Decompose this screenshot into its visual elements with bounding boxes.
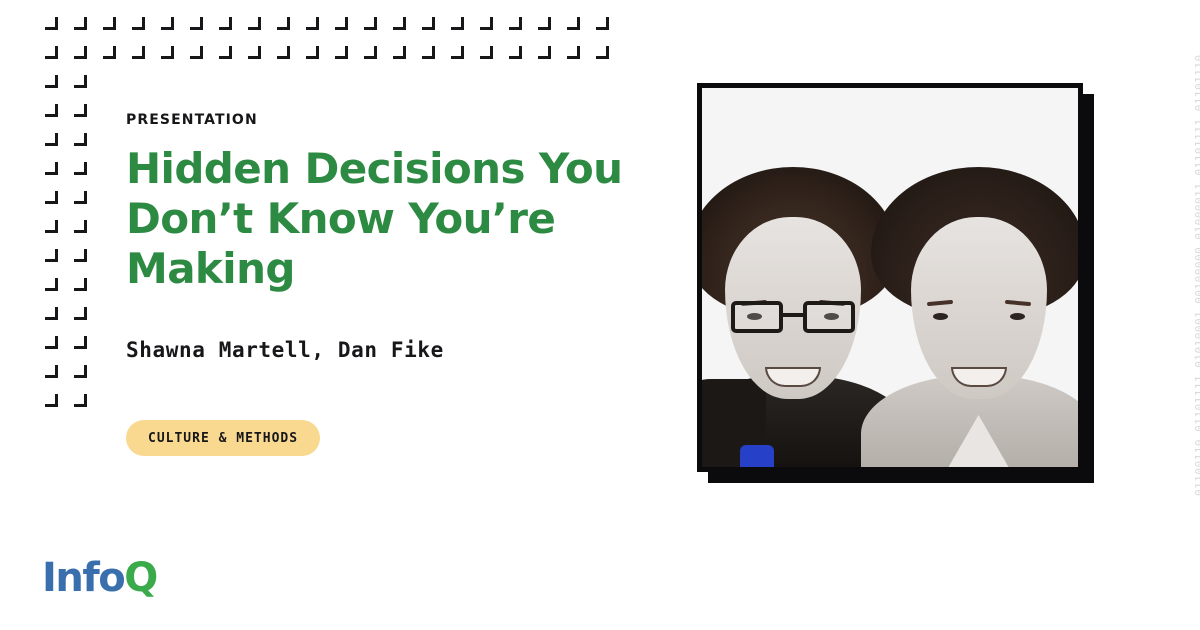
plus-pattern-row [42, 14, 622, 43]
plus-cell-empty [100, 391, 129, 420]
plus-icon [419, 43, 448, 72]
plus-icon [129, 14, 158, 43]
plus-icon [42, 159, 71, 188]
presentation-card: PRESENTATION Hidden Decisions You Don’t … [0, 0, 1200, 630]
plus-icon [71, 391, 100, 420]
glasses-lens-left [731, 301, 783, 333]
plus-icon [564, 14, 593, 43]
plus-icon [100, 14, 129, 43]
plus-icon [274, 14, 303, 43]
plus-cell-empty [100, 188, 129, 217]
plus-icon [71, 275, 100, 304]
plus-cell-empty [129, 72, 158, 101]
plus-icon [42, 130, 71, 159]
plus-cell-empty [100, 130, 129, 159]
plus-cell-empty [477, 72, 506, 101]
plus-icon [42, 101, 71, 130]
plus-icon [158, 14, 187, 43]
plus-icon [71, 304, 100, 333]
plus-icon [187, 14, 216, 43]
plus-icon [216, 43, 245, 72]
plus-cell-empty [390, 72, 419, 101]
photo-image [702, 88, 1078, 467]
plus-icon [42, 333, 71, 362]
plus-icon [245, 14, 274, 43]
plus-icon [100, 43, 129, 72]
plus-icon [42, 304, 71, 333]
plus-cell-empty [245, 72, 274, 101]
plus-cell-empty [361, 72, 390, 101]
plus-icon [303, 43, 332, 72]
plus-cell-empty [158, 72, 187, 101]
plus-icon [42, 43, 71, 72]
plus-icon [245, 43, 274, 72]
plus-icon [448, 43, 477, 72]
person-right-mouth [951, 367, 1007, 387]
plus-cell-empty [564, 72, 593, 101]
plus-icon [42, 14, 71, 43]
plus-cell-empty [506, 72, 535, 101]
plus-icon [71, 246, 100, 275]
plus-icon [390, 43, 419, 72]
plus-cell-empty [100, 333, 129, 362]
title-line-2: Don’t Know You’re Making [126, 194, 555, 293]
topic-badge[interactable]: CULTURE & METHODS [126, 420, 320, 456]
plus-cell-empty [332, 72, 361, 101]
plus-cell-empty [100, 246, 129, 275]
plus-cell-empty [274, 72, 303, 101]
plus-cell-empty [448, 72, 477, 101]
plus-icon [42, 188, 71, 217]
plus-icon [419, 14, 448, 43]
plus-icon [303, 14, 332, 43]
speaker-names: Shawna Martell, Dan Fike [126, 338, 686, 362]
plus-cell-empty [100, 101, 129, 130]
plus-icon [71, 101, 100, 130]
person-right-brow-left [926, 300, 952, 306]
person-right-brow-right [1004, 300, 1030, 306]
infoq-logo[interactable]: InfoQ [42, 558, 157, 598]
plus-cell-empty [100, 304, 129, 333]
plus-icon [506, 43, 535, 72]
plus-cell-empty [100, 275, 129, 304]
plus-pattern-row [42, 43, 622, 72]
person-left-mouth [765, 367, 821, 387]
plus-cell-empty [535, 72, 564, 101]
glasses-icon [731, 301, 855, 335]
plus-icon [71, 159, 100, 188]
plus-icon [71, 188, 100, 217]
plus-icon [535, 14, 564, 43]
binary-decoration-strip: 01100110 01101111 01010001 00100000 0100… [1176, 0, 1200, 630]
person-right-eye-left [933, 313, 948, 320]
plus-cell-empty [216, 72, 245, 101]
glasses-lens-right [803, 301, 855, 333]
glasses-bridge [783, 313, 803, 317]
logo-info-text: Info [42, 555, 124, 601]
plus-icon [71, 362, 100, 391]
plus-icon [71, 14, 100, 43]
person-right-face [911, 217, 1047, 399]
plus-cell-empty [100, 72, 129, 101]
plus-icon [71, 130, 100, 159]
plus-icon [593, 43, 622, 72]
plus-cell-empty [100, 159, 129, 188]
content-type-label: PRESENTATION [126, 112, 686, 128]
page-title: Hidden Decisions You Don’t Know You’re M… [126, 144, 686, 294]
plus-cell-empty [100, 362, 129, 391]
speaker-photo [697, 83, 1083, 472]
plus-icon [42, 391, 71, 420]
plus-cell-empty [187, 72, 216, 101]
plus-icon [361, 14, 390, 43]
plus-icon [390, 14, 419, 43]
plus-icon [71, 333, 100, 362]
plus-icon [477, 43, 506, 72]
logo-q-text: Q [124, 555, 157, 601]
title-line-1: Hidden Decisions You [126, 144, 622, 193]
plus-cell-empty [593, 72, 622, 101]
plus-icon [332, 14, 361, 43]
plus-icon [274, 43, 303, 72]
person-left-face [725, 217, 861, 399]
plus-icon [129, 43, 158, 72]
plus-cell-empty [303, 72, 332, 101]
plus-icon [361, 43, 390, 72]
plus-icon [42, 362, 71, 391]
plus-icon [535, 43, 564, 72]
plus-icon [564, 43, 593, 72]
plus-icon [506, 14, 535, 43]
person-left-shirt-accent [740, 445, 774, 467]
plus-icon [42, 72, 71, 101]
binary-text: 01100110 01101111 01010001 00100000 0100… [1193, 54, 1200, 496]
plus-icon [71, 43, 100, 72]
plus-cell-empty [419, 72, 448, 101]
badge-row: CULTURE & METHODS [126, 420, 686, 456]
plus-pattern-row [42, 72, 622, 101]
plus-icon [42, 246, 71, 275]
plus-icon [71, 72, 100, 101]
plus-icon [593, 14, 622, 43]
plus-icon [158, 43, 187, 72]
plus-cell-empty [100, 217, 129, 246]
plus-icon [477, 14, 506, 43]
person-right-eye-right [1010, 313, 1025, 320]
plus-icon [187, 43, 216, 72]
plus-icon [332, 43, 361, 72]
photo-frame [697, 83, 1083, 472]
plus-icon [71, 217, 100, 246]
content-block: PRESENTATION Hidden Decisions You Don’t … [126, 112, 686, 456]
plus-icon [42, 275, 71, 304]
person-right-portrait [871, 167, 1083, 467]
plus-icon [448, 14, 477, 43]
plus-icon [216, 14, 245, 43]
plus-icon [42, 217, 71, 246]
